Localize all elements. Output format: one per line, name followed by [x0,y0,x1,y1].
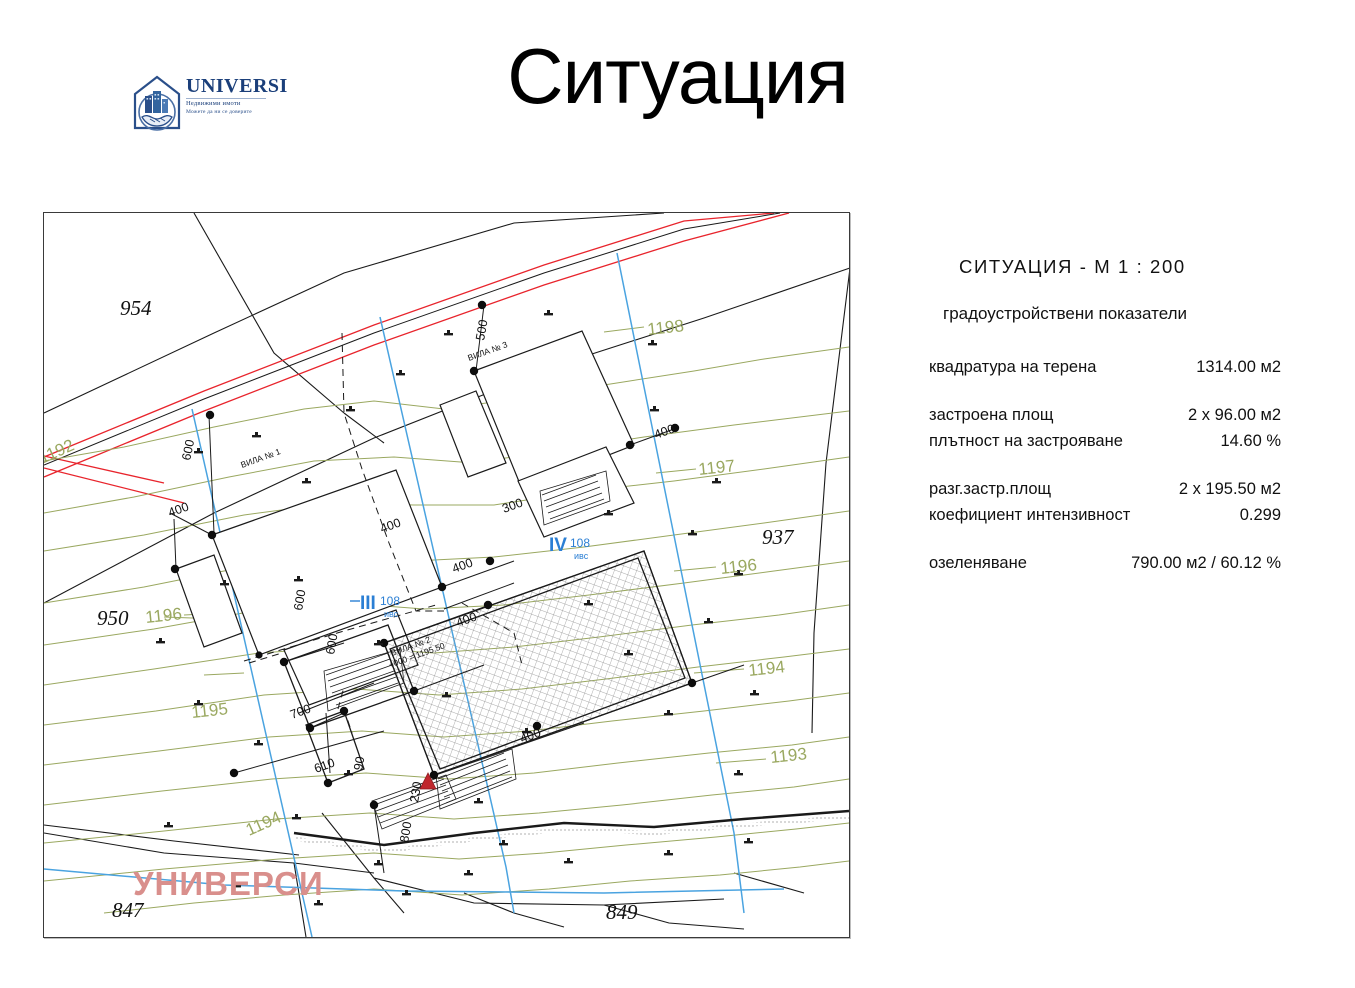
indicator-value: 2 х 195.50 м2 [1179,476,1325,502]
panel-subtitle: градоустройствени показатели [943,304,1325,324]
indicator-label: квадратура на терена [929,354,1187,380]
road-red-lines [44,213,789,503]
panel-title: СИТУАЦИЯ - М 1 : 200 [959,256,1325,278]
indicator-label: застроена площ [929,402,1141,428]
indicator-value: 0.299 [1240,502,1325,528]
svg-text:1198: 1198 [646,316,684,339]
indicator-value: 1314.00 м2 [1196,354,1325,380]
svg-text:300: 300 [500,496,524,516]
svg-text:1196: 1196 [719,555,757,578]
svg-text:III: III [360,593,376,614]
svg-text:600: 600 [179,438,197,461]
indicator-group-intensity: разг.застр.площ 2 х 195.50 м2 коефициент… [905,476,1325,528]
svg-text:90: 90 [351,755,367,771]
svg-text:400: 400 [166,500,190,520]
svg-text:1197: 1197 [697,456,735,479]
indicator-label: разг.застр.площ [929,476,1141,502]
page-header: UNIVERSI Недвижими имоти Можете да ни се… [0,0,1355,190]
svg-text:1194: 1194 [243,807,284,839]
indicator-value: 2 х 96.00 м2 [1188,402,1325,428]
indicator-row: застроена площ 2 х 96.00 м2 [929,402,1325,428]
indicator-group-green: озеленяване 790.00 м2 / 60.12 % [905,550,1325,576]
svg-text:IV: IV [549,535,567,556]
svg-text:108: 108 [380,594,400,608]
svg-text:500: 500 [473,319,490,342]
indicator-row: квадратура на терена 1314.00 м2 [929,354,1325,380]
svg-text:849: 849 [606,900,638,924]
svg-text:ВИЛА № 3: ВИЛА № 3 [466,339,509,363]
indicator-group-terrain: квадратура на терена 1314.00 м2 [905,354,1325,380]
indicator-label: плътност на застрояване [929,428,1220,454]
indicator-label: озеленяване [929,550,1079,576]
indicator-value: 14.60 % [1220,428,1325,454]
svg-text:1194: 1194 [747,657,785,680]
svg-text:ивс: ивс [384,609,399,619]
site-plan-drawing-frame: 954 937 950 847 849 1198 1197 1196 1194 … [43,212,850,938]
indicator-row: разг.застр.площ 2 х 195.50 м2 [929,476,1325,502]
svg-text:ВИЛА № 1: ВИЛА № 1 [239,446,282,470]
indicator-label: коефициент интензивност [929,502,1229,528]
svg-text:1196: 1196 [144,604,182,627]
indicator-row: плътност на застрояване 14.60 % [929,428,1325,454]
indicator-value: 790.00 м2 / 60.12 % [1131,550,1325,576]
watermark-text: УНИВЕРСИ [133,865,324,903]
indicator-group-builtarea: застроена площ 2 х 96.00 м2 плътност на … [905,402,1325,454]
svg-text:610: 610 [312,756,336,776]
svg-text:1195: 1195 [190,699,228,722]
page-title: Ситуация [0,32,1355,120]
bottom-edge-line [294,811,849,851]
svg-text:ивс: ивс [574,551,589,561]
svg-text:108: 108 [570,536,590,550]
indicator-row: коефициент интензивност 0.299 [929,502,1325,528]
svg-text:954: 954 [120,296,152,320]
svg-text:230: 230 [407,781,424,804]
urban-indicators-panel: СИТУАЦИЯ - М 1 : 200 градоустройствени п… [905,256,1325,598]
svg-text:1193: 1193 [769,744,807,767]
svg-text:950: 950 [97,606,129,630]
indicator-row: озеленяване 790.00 м2 / 60.12 % [929,550,1325,576]
svg-text:937: 937 [762,525,795,549]
site-plan-svg: 954 937 950 847 849 1198 1197 1196 1194 … [44,213,849,937]
